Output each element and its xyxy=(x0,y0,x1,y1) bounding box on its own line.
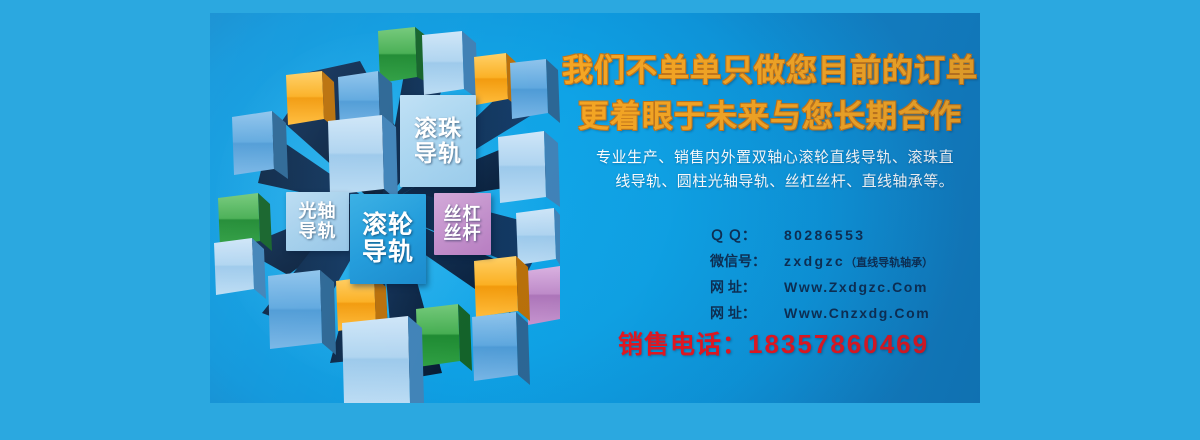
product-label-line1: 滚珠 xyxy=(414,116,462,141)
contact-value-website-1[interactable]: Www.Zxdgzc.Com xyxy=(784,279,928,295)
contact-row-website-2: 网 址： Www.Cnzxdg.Com xyxy=(710,303,933,323)
contact-value-qq[interactable]: 80286553 xyxy=(784,227,866,243)
product-label-line2: 丝杆 xyxy=(444,224,482,243)
product-label-gunzhu-daogui[interactable]: 滚珠 导轨 xyxy=(400,95,476,187)
contact-row-qq: Ｑ Ｑ： 80286553 xyxy=(710,225,933,245)
product-label-line2: 导轨 xyxy=(299,222,337,241)
exploding-3d-cubes-cluster: 滚珠 导轨 光轴 导轨 滚轮 导轨 丝杠 丝杆 xyxy=(210,13,560,403)
contact-value-website-2[interactable]: Www.Cnzxdg.Com xyxy=(784,305,930,321)
product-label-line2: 导轨 xyxy=(414,141,462,166)
product-label-guangzhou-daogui[interactable]: 光轴 导轨 xyxy=(286,192,349,251)
contact-label-website-1: 网 址： xyxy=(710,277,784,297)
sales-phone[interactable]: 销售电话：18357860469 xyxy=(618,325,929,361)
banner-copy: 我们不单单只做您目前的订单 更着眼于未来与您长期合作 专业生产、销售内外置双轴心… xyxy=(560,13,980,403)
contact-label-wechat: 微信号： xyxy=(710,251,784,271)
product-label-line1: 滚轮 xyxy=(362,212,414,239)
product-label-line2: 导轨 xyxy=(362,239,414,266)
contact-note-wechat: （直线导轨轴承） xyxy=(845,254,933,270)
headline-line-2: 更着眼于未来与您长期合作 xyxy=(560,91,980,136)
contact-label-qq: Ｑ Ｑ： xyxy=(710,225,784,245)
contact-row-wechat: 微信号： zxdgzc （直线导轨轴承） xyxy=(710,251,933,271)
banner-canvas: 滚珠 导轨 光轴 导轨 滚轮 导轨 丝杠 丝杆 我们不单单只做您目前的订单 更着… xyxy=(0,0,1200,440)
sales-phone-number[interactable]: 18357860469 xyxy=(748,329,929,359)
product-label-gunlun-daogui[interactable]: 滚轮 导轨 xyxy=(350,194,426,284)
contact-label-website-2: 网 址： xyxy=(710,303,784,323)
contact-value-wechat[interactable]: zxdgzc xyxy=(784,253,845,269)
company-description: 专业生产、销售内外置双轴心滚轮直线导轨、滚珠直线导轨、圆柱光轴导轨、丝杠丝杆、直… xyxy=(596,146,954,195)
headline-line-1: 我们不单单只做您目前的订单 xyxy=(560,45,980,90)
product-label-line1: 光轴 xyxy=(299,202,337,221)
sales-phone-label: 销售电话： xyxy=(618,331,748,359)
promotional-banner: 滚珠 导轨 光轴 导轨 滚轮 导轨 丝杠 丝杆 我们不单单只做您目前的订单 更着… xyxy=(210,13,980,403)
product-label-line1: 丝杠 xyxy=(444,205,482,224)
contact-info-list: Ｑ Ｑ： 80286553 微信号： zxdgzc （直线导轨轴承） 网 址： … xyxy=(710,225,933,329)
contact-row-website-1: 网 址： Www.Zxdgzc.Com xyxy=(710,277,933,297)
product-label-sigang-sigan[interactable]: 丝杠 丝杆 xyxy=(434,193,491,255)
